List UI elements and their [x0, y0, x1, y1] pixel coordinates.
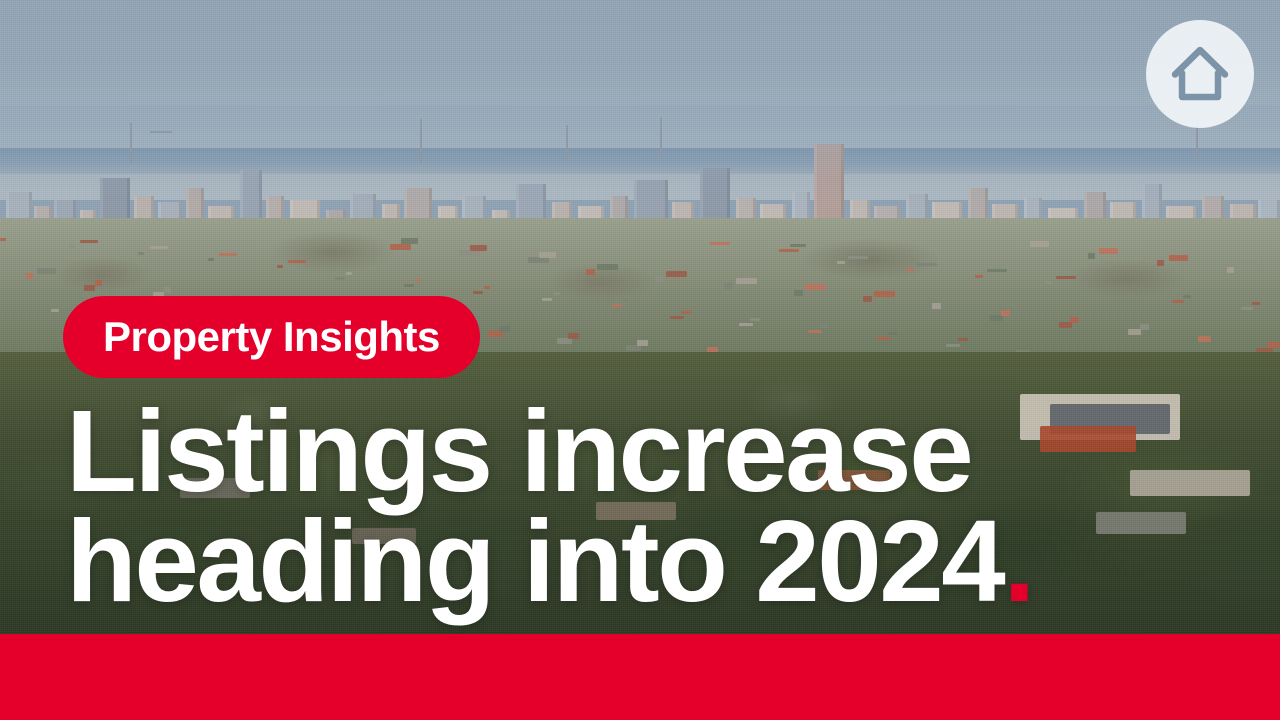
category-badge[interactable]: Property Insights: [63, 296, 480, 378]
headline-line-2-wrap: heading into 2024.: [66, 506, 1226, 616]
headline-terminator: .: [1003, 496, 1033, 626]
headline-block: Listings increase heading into 2024.: [66, 396, 1226, 616]
category-badge-label: Property Insights: [103, 316, 440, 358]
house-icon: [1168, 43, 1232, 105]
headline-line-2: heading into 2024: [66, 496, 1003, 626]
brand-logo[interactable]: [1146, 20, 1254, 128]
headline-line-1: Listings increase: [66, 396, 1226, 506]
hero-banner: Property Insights Listings increase head…: [0, 0, 1280, 720]
bottom-accent-bar: [0, 634, 1280, 720]
